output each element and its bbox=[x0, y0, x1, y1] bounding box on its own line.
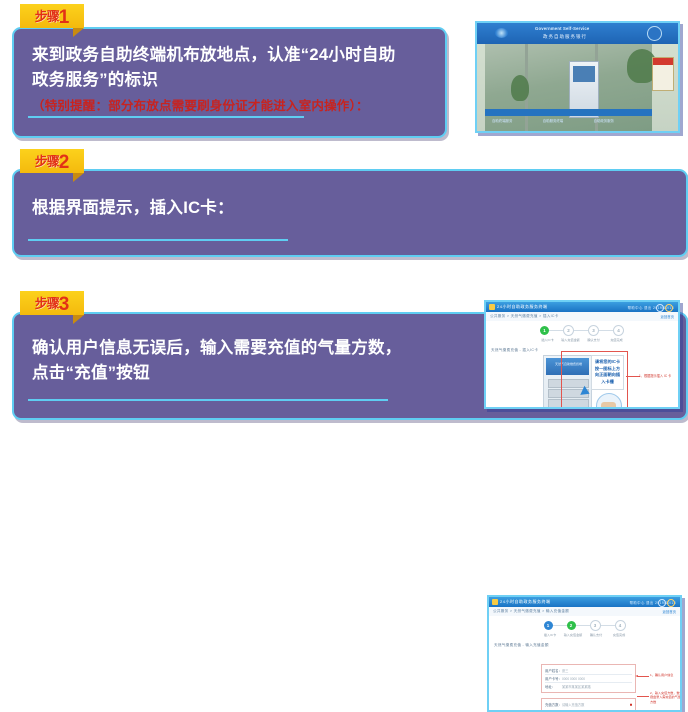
annotation-leader-line bbox=[626, 376, 640, 377]
help-circle-icon bbox=[656, 304, 664, 312]
step-card-text: 根据界面提示，插入IC卡： bbox=[32, 196, 234, 221]
annotation-text-2: 2、输入充值方数，数字键盘录入需充值的气量方数 bbox=[650, 691, 682, 704]
wizard-link-2 bbox=[574, 330, 588, 331]
user-info-form: 用户姓名： 张三 用户卡号： 0000 0000 0000 地址： 某某市某某区… bbox=[541, 664, 636, 711]
step-section-2: 步骤2 根据界面提示，插入IC卡： 24小时自助政务服务终端 帮助中心 退出 2… bbox=[0, 145, 688, 290]
field-value-name: 张三 bbox=[562, 668, 568, 673]
form-row-cardno: 用户卡号： 0000 0000 0000 bbox=[545, 675, 632, 683]
step-text-line2: 政务服务”的标识 bbox=[32, 68, 396, 93]
card-underline bbox=[28, 239, 288, 242]
photo-stripe-label-1: 自助终端服务 bbox=[492, 118, 512, 125]
wizard-steps: 1 2 3 4 插入IC卡 输入充值金额 确认支付 充值完成 bbox=[486, 325, 678, 345]
step-card-text: 确认用户信息无误后，输入需要充值的气量方数， 点击“充值”按钮 bbox=[32, 336, 402, 386]
photo-tree-left bbox=[511, 75, 529, 101]
step-badge-number: 3 bbox=[59, 295, 70, 314]
annotation-text-1: 1、确认用户信息 bbox=[650, 673, 673, 677]
user-info-box: 用户姓名： 张三 用户卡号： 0000 0000 0000 地址： 某某市某某区… bbox=[541, 664, 636, 693]
help-circle-icon bbox=[658, 599, 666, 607]
annotation-arrow-icon-1 bbox=[635, 675, 638, 677]
photo-notice-board bbox=[652, 57, 674, 91]
field-label-cardno: 用户卡号： bbox=[545, 676, 562, 681]
wizard-label-3: 确认支付 bbox=[582, 337, 605, 342]
wizard-link-2 bbox=[576, 625, 590, 626]
annotation-leader-line-1 bbox=[637, 676, 649, 677]
field-label-amount: 充值方数： bbox=[545, 702, 562, 707]
field-label-address: 地址： bbox=[545, 684, 562, 689]
wizard-link-3 bbox=[601, 625, 615, 626]
wizard-label-4: 充值完成 bbox=[605, 337, 628, 342]
card-underline bbox=[28, 399, 388, 402]
step-text-line1: 来到政务自助终端机布放地点，认准“24小时自助 bbox=[32, 43, 396, 68]
annotation-highlight-box bbox=[561, 351, 628, 409]
app-logo-icon bbox=[492, 599, 498, 605]
wizard-label-1: 插入IC卡 bbox=[536, 337, 559, 342]
field-value-cardno: 0000 0000 0000 bbox=[562, 677, 585, 681]
step-card-2: 根据界面提示，插入IC卡： bbox=[12, 169, 688, 257]
wizard-dot-3: 3 bbox=[590, 620, 601, 631]
terminal-screenshot-step2: 24小时自助政务服务终端 帮助中心 退出 2019/10/18 公共服务 > 天… bbox=[484, 300, 680, 409]
form-row-address: 地址： 某某市某某区某某路 bbox=[545, 683, 632, 690]
step-badge-label: 步骤 bbox=[35, 10, 59, 23]
form-row-name: 用户姓名： 张三 bbox=[545, 667, 632, 675]
wizard-label-4: 充值完成 bbox=[608, 632, 631, 637]
wizard-dot-row: 1 2 3 4 bbox=[540, 325, 624, 336]
app-title: 24小时自助政务服务终端 bbox=[500, 599, 550, 605]
wizard-dot-1: 1 bbox=[540, 326, 549, 335]
photo-sign-english: Government Self-Service bbox=[535, 26, 589, 31]
step-text-line2: 点击“充值”按钮 bbox=[32, 361, 402, 386]
amount-input-placeholder[interactable]: 请输入充值方数 bbox=[562, 702, 584, 707]
photo-stripe-label-2: 自助服务终端 bbox=[543, 118, 563, 125]
user-circle-icon bbox=[665, 304, 673, 312]
breadcrumb-text: 公共服务 > 天然气缴费充值 > 输入充值金额 bbox=[493, 609, 569, 614]
wizard-dot-3: 3 bbox=[588, 325, 599, 336]
step-text-line1: 根据界面提示，插入IC卡： bbox=[32, 196, 234, 221]
wizard-dot-4: 4 bbox=[615, 620, 626, 631]
home-link[interactable]: 返回首页 bbox=[662, 609, 676, 614]
user-circle-icon bbox=[667, 599, 675, 607]
home-link[interactable]: 返回首页 bbox=[660, 314, 674, 319]
field-label-name: 用户姓名： bbox=[545, 668, 562, 673]
form-row-amount[interactable]: 充值方数： 请输入充值方数 bbox=[545, 701, 632, 708]
step-text-line1: 确认用户信息无误后，输入需要充值的气量方数， bbox=[32, 336, 402, 361]
wizard-label-1: 插入IC卡 bbox=[539, 632, 562, 637]
screenshot-body: 1 2 3 4 插入IC卡 输入充值金额 确认支付 充值完成 bbox=[489, 616, 680, 710]
wizard-steps: 1 2 3 4 插入IC卡 输入充值金额 确认支付 充值完成 bbox=[489, 620, 680, 640]
wizard-dot-4: 4 bbox=[613, 325, 624, 336]
screenshot-titlebar: 24小时自助政务服务终端 帮助中心 退出 2019/10/18 bbox=[489, 597, 680, 607]
annotation-text-1: 1、根据提示插入 IC 卡 bbox=[639, 373, 671, 378]
photo-kiosk-screen bbox=[573, 66, 595, 82]
step-badge-number: 1 bbox=[59, 8, 70, 27]
app-logo-icon bbox=[489, 304, 495, 310]
wizard-label-3: 确认支付 bbox=[585, 632, 608, 637]
wizard-label-row: 插入IC卡 输入充值金额 确认支付 充值完成 bbox=[539, 632, 631, 637]
wizard-dot-1: 1 bbox=[544, 621, 553, 630]
step-badge-label: 步骤 bbox=[35, 297, 59, 310]
app-title: 24小时自助政务服务终端 bbox=[497, 304, 547, 310]
required-marker-icon bbox=[630, 703, 633, 706]
wizard-dot-2: 2 bbox=[567, 621, 576, 630]
screenshot-canvas: 24小时自助政务服务终端 帮助中心 退出 2019/10/18 公共服务 > 天… bbox=[489, 597, 680, 710]
step-badge-1: 步骤1 bbox=[20, 4, 84, 28]
wizard-link-1 bbox=[553, 625, 567, 626]
step-note: （特别提醒：部分布放点需要刷身份证才能进入室内操作）： bbox=[32, 95, 369, 114]
field-value-address: 某某市某某区某某路 bbox=[562, 684, 591, 689]
terminal-screenshot-step3: 24小时自助政务服务终端 帮助中心 退出 2019/10/18 公共服务 > 天… bbox=[487, 595, 682, 712]
photo-sign-chinese: 政务自助服务银行 bbox=[543, 34, 587, 40]
step-badge-number: 2 bbox=[59, 153, 70, 172]
wizard-dot-row: 1 2 3 4 bbox=[544, 620, 626, 631]
step-section-1: 步骤1 来到政务自助终端机布放地点，认准“24小时自助 政务服务”的标识 （特别… bbox=[0, 0, 688, 145]
photo-notice-board-header bbox=[653, 58, 673, 65]
amount-input-box[interactable]: 充值方数： 请输入充值方数 bbox=[541, 698, 636, 711]
step-badge-2: 步骤2 bbox=[20, 149, 84, 173]
wizard-link-1 bbox=[549, 330, 563, 331]
section-title: 天然气缴费充值 - 插入IC卡 bbox=[491, 348, 538, 353]
photo-signboard: Government Self-Service 政务自助服务银行 bbox=[477, 23, 678, 44]
photo-door-stripe: 自助终端服务 自助服务终端 自助政务服务 bbox=[485, 109, 652, 116]
step-badge-label: 步骤 bbox=[35, 155, 59, 168]
step-card-1: 来到政务自助终端机布放地点，认准“24小时自助 政务服务”的标识 （特别提醒：部… bbox=[12, 27, 447, 138]
step-badge-3: 步骤3 bbox=[20, 291, 84, 315]
photo-emblem-icon bbox=[647, 26, 662, 41]
screenshot-body: 1 2 3 4 插入IC卡 输入充值金额 确认支付 充值完成 bbox=[486, 321, 678, 407]
photo-brand-logo-icon bbox=[495, 28, 508, 38]
annotation-leader-line-2 bbox=[637, 696, 649, 697]
wizard-label-2: 输入充值金额 bbox=[559, 337, 582, 342]
wizard-label-2: 输入充值金额 bbox=[562, 632, 585, 637]
section-title: 天然气缴费充值 - 输入充值金额 bbox=[494, 643, 549, 648]
photo-stripe-label-3: 自助政务服务 bbox=[594, 118, 614, 125]
storefront-photo: 自助终端服务 自助服务终端 自助政务服务 Government Self-Ser… bbox=[475, 21, 680, 133]
wizard-link-3 bbox=[599, 330, 613, 331]
step-card-text: 来到政务自助终端机布放地点，认准“24小时自助 政务服务”的标识 bbox=[32, 43, 396, 93]
wizard-label-row: 插入IC卡 输入充值金额 确认支付 充值完成 bbox=[536, 337, 628, 342]
card-underline bbox=[28, 116, 304, 119]
screenshot-canvas: 24小时自助政务服务终端 帮助中心 退出 2019/10/18 公共服务 > 天… bbox=[486, 302, 678, 407]
wizard-dot-2: 2 bbox=[563, 325, 574, 336]
screenshot-titlebar: 24小时自助政务服务终端 帮助中心 退出 2019/10/18 bbox=[486, 302, 678, 312]
breadcrumb-text: 公共服务 > 天然气缴费充值 > 插入IC卡 bbox=[490, 314, 559, 319]
